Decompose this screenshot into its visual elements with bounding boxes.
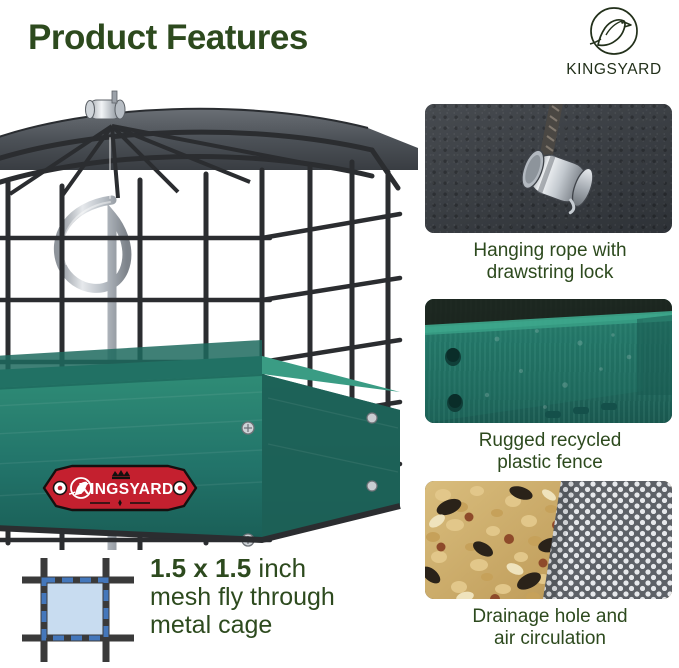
mesh-grid-diagram-icon — [22, 558, 134, 662]
mesh-size-value: 1.5 x 1.5 — [150, 553, 251, 583]
caption-line-1: Rugged recycled — [425, 430, 675, 452]
kingsyard-badge: KINGSYARD — [40, 464, 200, 512]
caption-line-2: air circulation — [425, 628, 675, 650]
feature-caption: Rugged recycled plastic fence — [425, 430, 675, 473]
feature-caption: Hanging rope with drawstring lock — [425, 240, 675, 283]
feature-recycled-fence: Rugged recycled plastic fence — [425, 299, 675, 473]
bird-in-circle-logo-icon — [583, 6, 645, 60]
caption-line-1: Hanging rope with — [425, 240, 675, 262]
mesh-label-line3: metal cage — [150, 611, 408, 639]
caption-line-2: plastic fence — [425, 452, 675, 474]
feature-drainage-air: Drainage hole and air circulation — [425, 481, 675, 649]
header: Product Features KINGSYARD — [0, 0, 679, 88]
brand-logo: KINGSYARD — [555, 6, 673, 86]
brand-name: KINGSYARD — [566, 61, 662, 79]
mesh-size-unit: inch — [251, 553, 306, 583]
mesh-label: 1.5 x 1.5 inch mesh fly through metal ca… — [150, 554, 408, 639]
mesh-callout: 1.5 x 1.5 inch mesh fly through metal ca… — [0, 552, 418, 668]
caption-line-2: drawstring lock — [425, 262, 675, 284]
recycled-plastic-fence-photo — [425, 299, 672, 423]
feature-caption: Drainage hole and air circulation — [425, 606, 675, 649]
drawstring-lock-photo — [425, 104, 672, 233]
caption-line-1: Drainage hole and — [425, 606, 675, 628]
page-title: Product Features — [28, 18, 308, 58]
badge-text: KINGSYARD — [78, 481, 173, 498]
mesh-label-line2: mesh fly through — [150, 583, 408, 611]
feature-hanging-rope: Hanging rope with drawstring lock — [425, 104, 675, 283]
drainage-mesh-photo — [425, 481, 672, 599]
